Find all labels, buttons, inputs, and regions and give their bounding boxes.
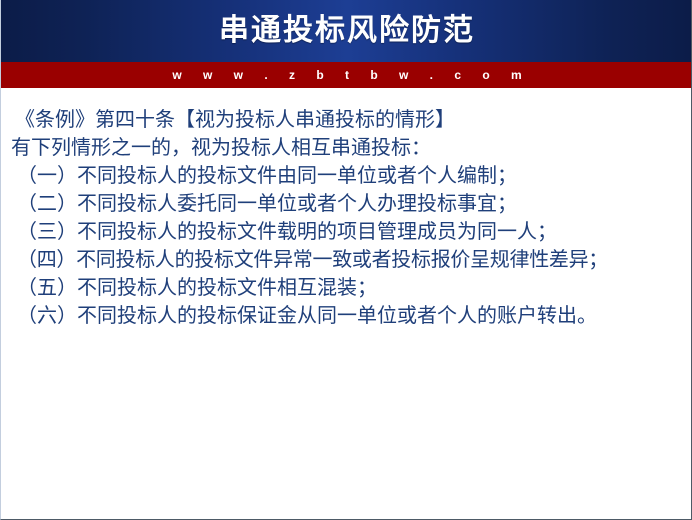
regulation-lead-in: 有下列情形之一的，视为投标人相互串通投标：	[1, 134, 692, 162]
slide-title: 串通投标风险防范	[1, 0, 692, 62]
clause-item-3: （三）不同投标人的投标文件载明的项目管理成员为同一人；	[1, 218, 692, 246]
regulation-heading: 《条例》第四十条【视为投标人串通投标的情形】	[1, 106, 692, 134]
presentation-slide: 串通投标风险防范 w w w . z b t b w . c o m 《条例》第…	[0, 0, 692, 520]
website-url-text: w w w . z b t b w . c o m	[163, 69, 530, 81]
clause-item-6: （六）不同投标人的投标保证金从同一单位或者个人的账户转出。	[1, 302, 692, 330]
clause-text-block: 《条例》第四十条【视为投标人串通投标的情形】 有下列情形之一的，视为投标人相互串…	[1, 106, 692, 330]
slide-body: 《条例》第四十条【视为投标人串通投标的情形】 有下列情形之一的，视为投标人相互串…	[1, 88, 692, 519]
website-url-bar: w w w . z b t b w . c o m	[1, 62, 692, 88]
header-banner: 串通投标风险防范	[1, 0, 692, 62]
clause-item-2: （二）不同投标人委托同一单位或者个人办理投标事宜；	[1, 190, 692, 218]
clause-item-5: （五）不同投标人的投标文件相互混装；	[1, 274, 692, 302]
clause-item-1: （一）不同投标人的投标文件由同一单位或者个人编制；	[1, 162, 692, 190]
clause-item-4: （四）不同投标人的投标文件异常一致或者投标报价呈规律性差异；	[1, 246, 692, 274]
